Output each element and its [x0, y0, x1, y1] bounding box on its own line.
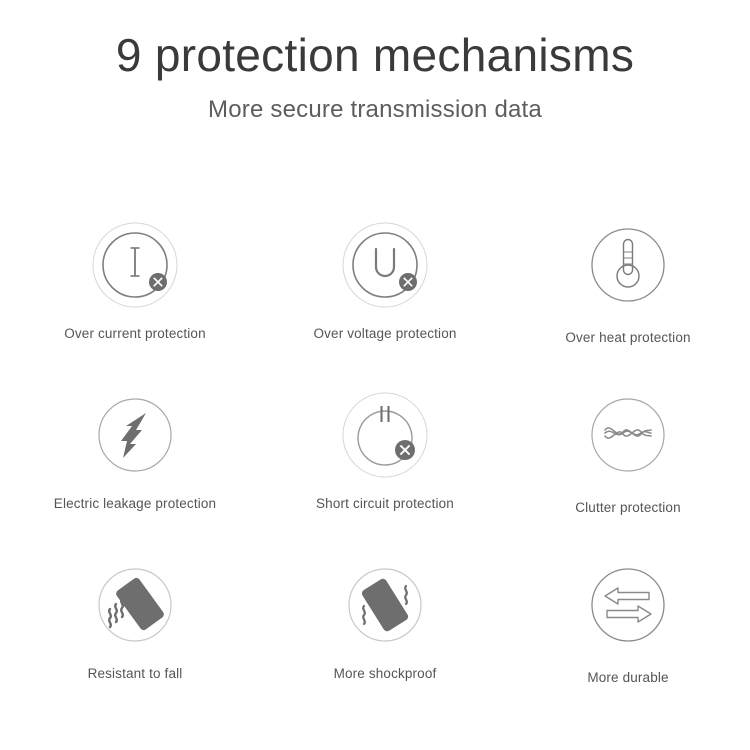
feature-label: Short circuit protection: [316, 496, 454, 511]
page-header: 9 protection mechanisms More secure tran…: [0, 30, 750, 124]
shockproof-device-icon: [342, 562, 428, 648]
short-circuit-icon: [342, 392, 428, 478]
feature-item-over-current: Over current protection: [10, 222, 260, 392]
feature-label: Electric leakage protection: [54, 496, 216, 511]
feature-item-electric-leakage: Electric leakage protection: [10, 392, 260, 562]
feature-item-over-voltage: Over voltage protection: [260, 222, 510, 392]
over-current-icon: [92, 222, 178, 308]
feature-item-shockproof: More shockproof: [260, 562, 510, 732]
page-subtitle: More secure transmission data: [0, 96, 750, 124]
feature-label: Resistant to fall: [88, 666, 183, 681]
drop-resistant-device-icon: [92, 562, 178, 648]
protection-mechanisms-page: 9 protection mechanisms More secure tran…: [0, 0, 750, 750]
features-grid: Over current protection Over voltage pro…: [0, 222, 750, 732]
feature-item-clutter: Clutter protection: [503, 392, 750, 562]
feature-item-short-circuit: Short circuit protection: [260, 392, 510, 562]
lightning-bolt-icon: [92, 392, 178, 478]
feature-item-more-durable: More durable: [503, 562, 750, 732]
feature-label: Over voltage protection: [313, 326, 456, 341]
page-title: 9 protection mechanisms: [0, 30, 750, 82]
wavy-lines-icon: [585, 392, 671, 478]
x-badge: [395, 440, 415, 460]
feature-label: More shockproof: [334, 666, 437, 681]
over-voltage-icon: [342, 222, 428, 308]
feature-label: Over heat protection: [565, 330, 690, 345]
two-way-arrows-icon: [585, 562, 671, 648]
x-badge: [399, 273, 417, 291]
feature-item-over-heat: Over heat protection: [503, 222, 750, 392]
x-badge: [149, 273, 167, 291]
feature-label: More durable: [587, 670, 668, 685]
thermometer-icon: [585, 222, 671, 308]
feature-item-resistant-to-fall: Resistant to fall: [10, 562, 260, 732]
feature-label: Over current protection: [64, 326, 206, 341]
feature-label: Clutter protection: [575, 500, 681, 515]
